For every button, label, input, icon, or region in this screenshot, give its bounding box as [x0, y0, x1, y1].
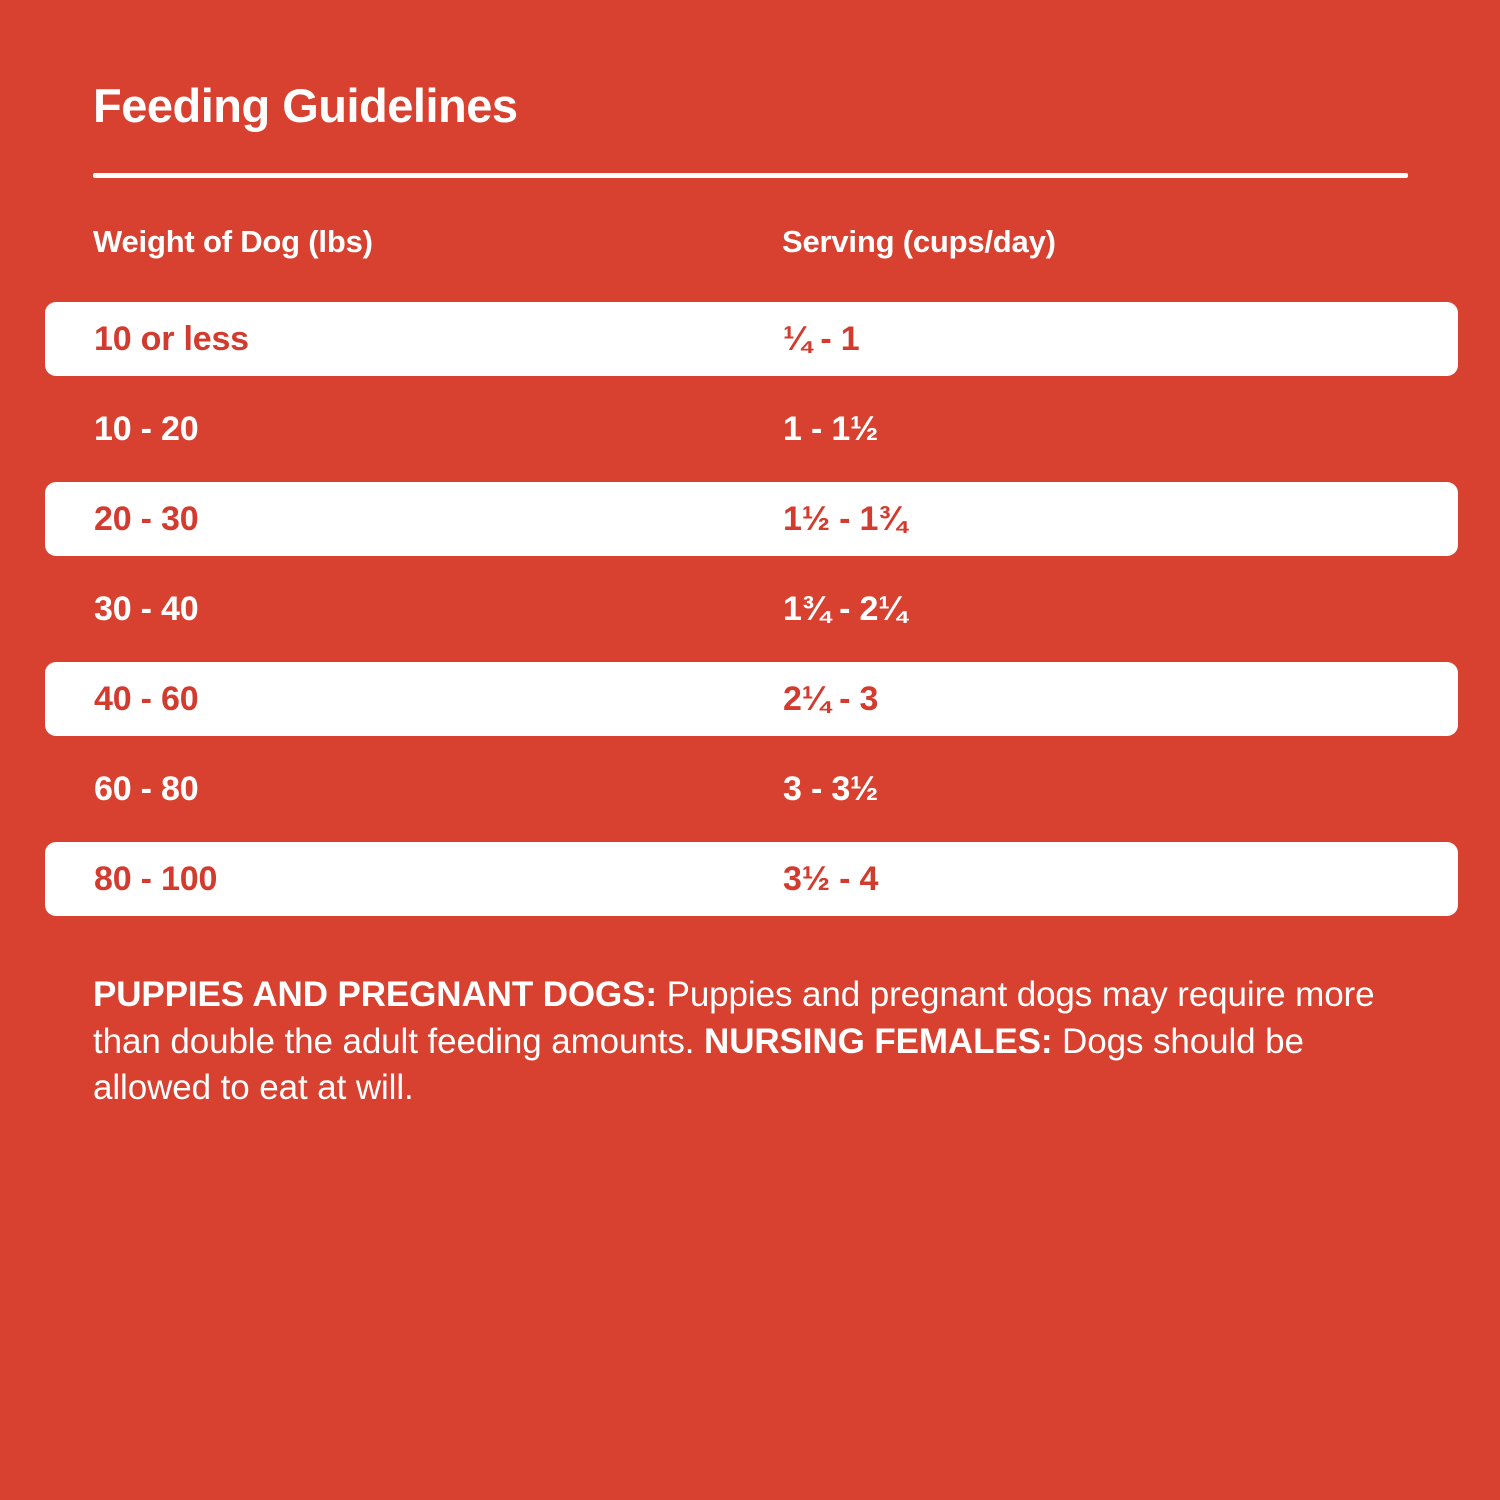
cell-serving: 3 - 3½ — [783, 772, 878, 806]
table-row: 10 or less ¼ - 1 — [45, 302, 1458, 376]
cell-weight: 30 - 40 — [94, 592, 198, 626]
feeding-guidelines-panel: Feeding Guidelines Weight of Dog (lbs) S… — [0, 0, 1500, 1500]
table-column-headers: Weight of Dog (lbs) Serving (cups/day) — [0, 224, 1500, 274]
cell-serving: 2¼ - 3 — [783, 682, 878, 716]
cell-weight: 40 - 60 — [94, 682, 198, 716]
cell-serving: 1½ - 1¾ — [783, 502, 906, 536]
cell-weight: 10 - 20 — [94, 412, 198, 446]
table-row: 20 - 30 1½ - 1¾ — [45, 482, 1458, 556]
feeding-table-body: 10 or less ¼ - 1 10 - 20 1 - 1½ 20 - 30 … — [0, 302, 1500, 932]
cell-serving: 3½ - 4 — [783, 862, 878, 896]
cell-weight: 10 or less — [94, 322, 249, 356]
table-row: 60 - 80 3 - 3½ — [45, 752, 1458, 826]
column-header-serving: Serving (cups/day) — [782, 224, 1056, 260]
title-divider — [93, 173, 1408, 178]
cell-serving: 1 - 1½ — [783, 412, 878, 446]
cell-weight: 80 - 100 — [94, 862, 217, 896]
footnote-note: PUPPIES AND PREGNANT DOGS: Puppies and p… — [93, 972, 1423, 1112]
column-header-weight: Weight of Dog (lbs) — [93, 224, 373, 260]
table-row: 10 - 20 1 - 1½ — [45, 392, 1458, 466]
footnote-label-nursing: NURSING FEMALES: — [704, 1022, 1052, 1061]
cell-serving: ¼ - 1 — [783, 322, 859, 356]
table-row: 40 - 60 2¼ - 3 — [45, 662, 1458, 736]
footnote-label-puppies: PUPPIES AND PREGNANT DOGS: — [93, 975, 657, 1014]
table-row: 80 - 100 3½ - 4 — [45, 842, 1458, 916]
cell-weight: 20 - 30 — [94, 502, 198, 536]
page-title: Feeding Guidelines — [93, 82, 518, 129]
cell-serving: 1¾ - 2¼ — [783, 592, 906, 626]
table-row: 30 - 40 1¾ - 2¼ — [45, 572, 1458, 646]
cell-weight: 60 - 80 — [94, 772, 198, 806]
